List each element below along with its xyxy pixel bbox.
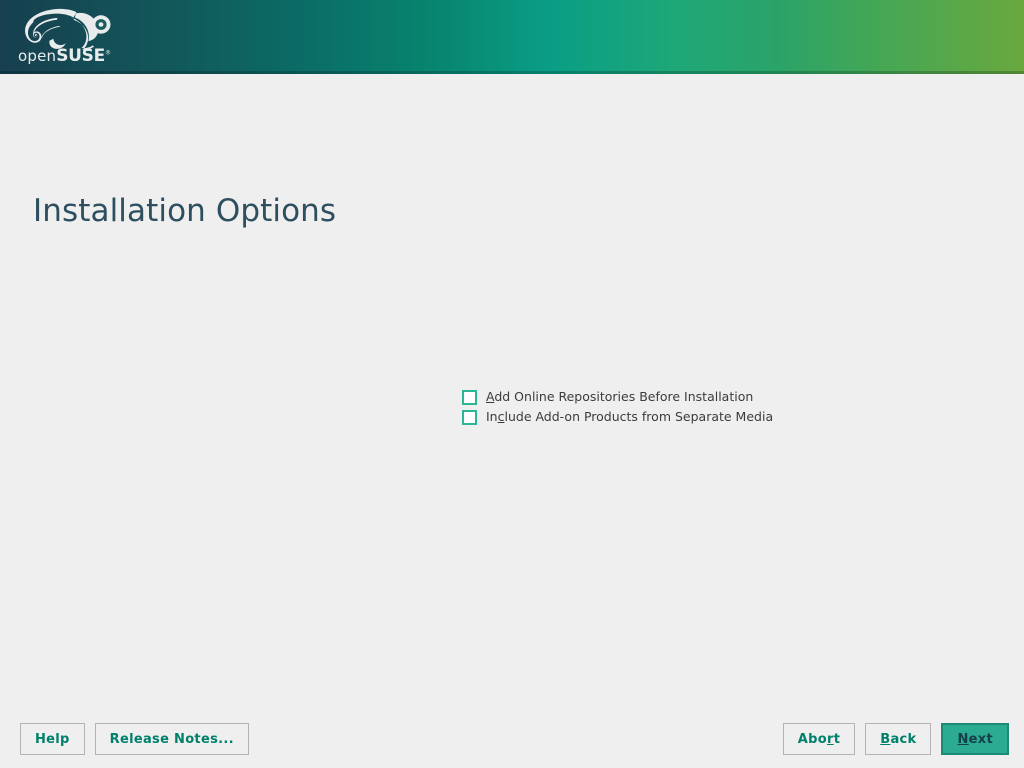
wordmark-trademark: ®: [105, 50, 111, 57]
label-rest: ack: [890, 732, 916, 747]
abort-button-label: Abort: [798, 732, 840, 747]
checkbox-add-online-repositories[interactable]: [462, 390, 477, 405]
help-button[interactable]: Help: [20, 723, 85, 755]
help-button-label: Help: [35, 732, 70, 747]
option-label-add-online-repositories: Add Online Repositories Before Installat…: [486, 391, 753, 404]
checkbox-include-addon-products[interactable]: [462, 410, 477, 425]
accel-char: r: [827, 732, 834, 747]
label-rest: ext: [969, 732, 993, 747]
button-bar-right: Abort Back Next: [783, 723, 1009, 755]
back-button[interactable]: Back: [865, 723, 931, 755]
button-bar-left: Help Release Notes...: [20, 723, 249, 755]
option-include-addon-products[interactable]: Include Add-on Products from Separate Me…: [462, 407, 773, 427]
opensuse-logo: openSUSE®: [16, 8, 120, 68]
label-rest: lude Add-on Products from Separate Media: [504, 409, 773, 424]
option-label-include-addon-products: Include Add-on Products from Separate Me…: [486, 411, 773, 424]
release-notes-button-label: Release Notes...: [110, 732, 234, 747]
back-button-label: Back: [880, 732, 916, 747]
wordmark-open: open: [18, 47, 56, 65]
header-banner: openSUSE®: [0, 0, 1024, 74]
next-button[interactable]: Next: [941, 723, 1009, 755]
next-button-label: Next: [957, 732, 993, 747]
banner-bottom-rule: [0, 71, 1024, 74]
wordmark-suse: SUSE: [56, 46, 105, 66]
accel-char: N: [957, 732, 968, 747]
accel-prefix: In: [486, 409, 498, 424]
abort-button[interactable]: Abort: [783, 723, 855, 755]
option-add-online-repositories[interactable]: Add Online Repositories Before Installat…: [462, 387, 773, 407]
accel-prefix: Abo: [798, 732, 827, 747]
installation-options-group: Add Online Repositories Before Installat…: [462, 387, 773, 427]
release-notes-button[interactable]: Release Notes...: [95, 723, 249, 755]
label-rest: t: [834, 732, 841, 747]
page-title: Installation Options: [33, 193, 336, 229]
opensuse-wordmark: openSUSE®: [18, 48, 111, 65]
accel-char: B: [880, 732, 890, 747]
label-rest: dd Online Repositories Before Installati…: [494, 389, 753, 404]
